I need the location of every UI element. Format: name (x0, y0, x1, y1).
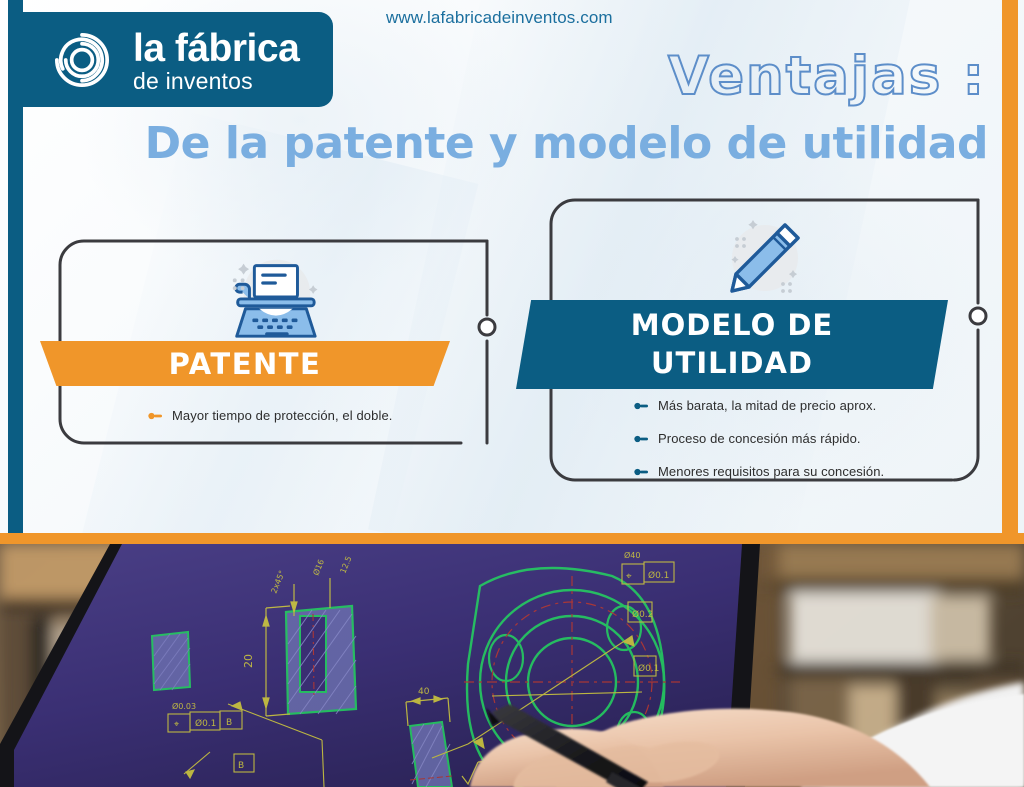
brand-logo[interactable]: la fábrica de inventos (23, 12, 333, 107)
right-accent-bar (1002, 0, 1018, 544)
list-item: Proceso de concesión más rápido. (634, 431, 884, 446)
spiral-circle-icon (45, 23, 119, 97)
list-item: Mayor tiempo de protección, el doble. (148, 408, 393, 423)
modelo-bullet-text-3: Menores requisitos para su concesión. (658, 464, 884, 479)
bullet-pin-icon (634, 401, 648, 411)
bullet-pin-icon (148, 411, 162, 421)
orange-divider-bar (0, 533, 1024, 544)
infographic-poster: la fábrica de inventos www.lafabricadein… (0, 0, 1024, 787)
modelo-ribbon: MODELO DE UTILIDAD (516, 300, 948, 389)
modelo-bullet-list: Más barata, la mitad de precio aprox. Pr… (634, 398, 884, 497)
patente-bullet-list: Mayor tiempo de protección, el doble. (148, 408, 393, 441)
patente-ribbon-label: PATENTE (169, 347, 322, 381)
list-item: Menores requisitos para su concesión. (634, 464, 884, 479)
modelo-ribbon-label-line2: UTILIDAD (651, 345, 813, 382)
brand-name-secondary: de inventos (133, 70, 299, 93)
bullet-pin-icon (634, 434, 648, 444)
brand-wordmark: la fábrica de inventos (133, 27, 299, 93)
bullet-pin-icon (634, 467, 648, 477)
typewriter-icon (218, 248, 326, 346)
website-url[interactable]: www.lafabricadeinventos.com (386, 8, 613, 28)
photo-illustration: 20 2x45° Ø16 12.5 (0, 544, 1024, 787)
modelo-ribbon-label-line1: MODELO DE (631, 307, 833, 344)
patente-ribbon: PATENTE (40, 341, 450, 386)
modelo-bullet-text-1: Más barata, la mitad de precio aprox. (658, 398, 876, 413)
left-accent-bar (8, 0, 23, 540)
page-title: Ventajas : (668, 46, 986, 107)
modelo-bullet-text-2: Proceso de concesión más rápido. (658, 431, 861, 446)
patente-bullet-text-1: Mayor tiempo de protección, el doble. (172, 408, 393, 423)
list-item: Más barata, la mitad de precio aprox. (634, 398, 884, 413)
page-subtitle: De la patente y modelo de utilidad (145, 118, 988, 169)
brand-name-primary: la fábrica (133, 29, 299, 68)
cad-workstation-photo: 20 2x45° Ø16 12.5 (0, 544, 1024, 787)
pencil-icon (713, 208, 813, 308)
